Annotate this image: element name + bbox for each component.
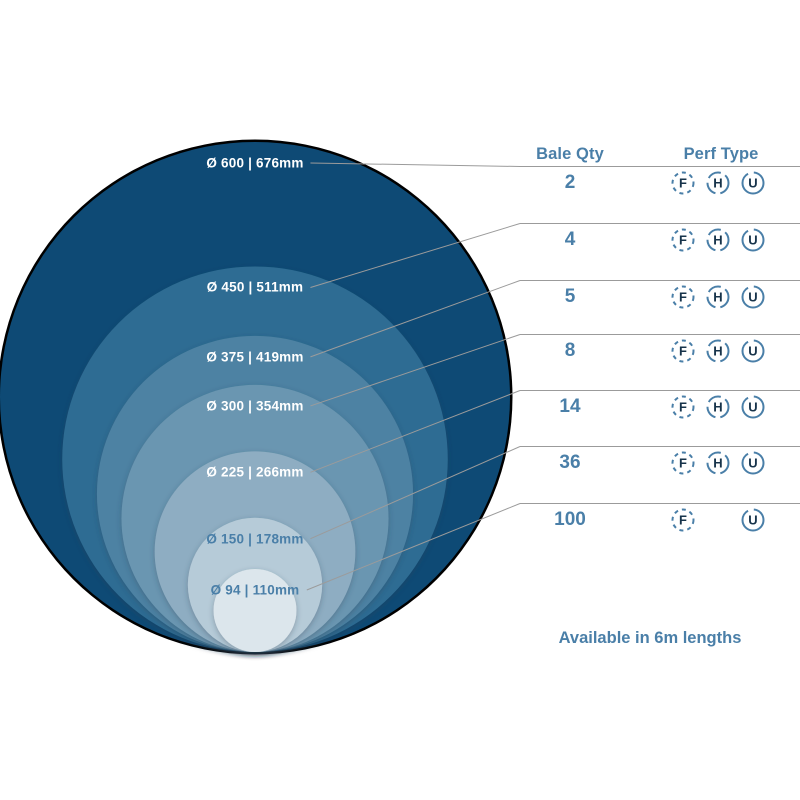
table-row-rule (520, 166, 800, 167)
bale-qty-value: 4 (565, 229, 576, 251)
perf-badge-h-icon[interactable]: H (705, 170, 731, 196)
perf-badge-u-icon[interactable]: U (740, 284, 766, 310)
ring-circle (214, 569, 297, 652)
svg-text:F: F (679, 290, 687, 305)
perf-badge-f-icon[interactable]: F (670, 450, 696, 476)
svg-text:F: F (679, 513, 687, 528)
svg-text:U: U (748, 513, 757, 528)
svg-text:F: F (679, 176, 687, 191)
perf-badge-f-icon[interactable]: F (670, 227, 696, 253)
bale-qty-value: 14 (559, 396, 580, 418)
svg-text:U: U (748, 400, 757, 415)
perf-badge-h-icon[interactable]: H (705, 394, 731, 420)
svg-text:F: F (679, 344, 687, 359)
perf-badge-h-icon[interactable]: H (705, 284, 731, 310)
svg-text:F: F (679, 233, 687, 248)
svg-text:F: F (679, 400, 687, 415)
perf-badge-f-icon[interactable]: F (670, 507, 696, 533)
bale-qty-value: 2 (565, 172, 576, 194)
svg-text:U: U (748, 290, 757, 305)
perf-badge-f-icon[interactable]: F (670, 284, 696, 310)
perf-badge-u-icon[interactable]: U (740, 227, 766, 253)
svg-text:U: U (748, 176, 757, 191)
bale-qty-value: 100 (554, 509, 586, 531)
svg-text:H: H (713, 176, 722, 191)
svg-text:H: H (713, 344, 722, 359)
perf-badge-u-icon[interactable]: U (740, 394, 766, 420)
svg-text:U: U (748, 344, 757, 359)
svg-text:H: H (713, 290, 722, 305)
table-row-rule (520, 390, 800, 391)
perf-badge-f-icon[interactable]: F (670, 394, 696, 420)
table-row-rule (520, 334, 800, 335)
table-row-rule (520, 223, 800, 224)
perf-badge-u-icon[interactable]: U (740, 338, 766, 364)
table-row-rule (520, 446, 800, 447)
bale-qty-value: 5 (565, 286, 576, 308)
perf-badge-u-icon[interactable]: U (740, 507, 766, 533)
table-row-rule (520, 280, 800, 281)
perf-badge-h-icon[interactable]: H (705, 338, 731, 364)
svg-text:F: F (679, 456, 687, 471)
perf-badge-f-icon[interactable]: F (670, 170, 696, 196)
bale-qty-value: 36 (559, 452, 580, 474)
svg-text:U: U (748, 456, 757, 471)
column-header-bale-qty: Bale Qty (536, 145, 604, 164)
svg-text:H: H (713, 400, 722, 415)
svg-text:H: H (713, 233, 722, 248)
bale-qty-value: 8 (565, 340, 576, 362)
infographic-canvas: Ø 600 | 676mmØ 450 | 511mmØ 375 | 419mmØ… (0, 0, 800, 800)
column-header-perf-type: Perf Type (684, 145, 759, 164)
table-row-rule (520, 503, 800, 504)
perf-badge-h-icon[interactable]: H (705, 227, 731, 253)
perf-badge-f-icon[interactable]: F (670, 338, 696, 364)
perf-badge-u-icon[interactable]: U (740, 170, 766, 196)
perf-badge-u-icon[interactable]: U (740, 450, 766, 476)
svg-text:U: U (748, 233, 757, 248)
perf-badge-h-icon[interactable]: H (705, 450, 731, 476)
svg-text:H: H (713, 456, 722, 471)
footer-note: Available in 6m lengths (559, 629, 742, 648)
